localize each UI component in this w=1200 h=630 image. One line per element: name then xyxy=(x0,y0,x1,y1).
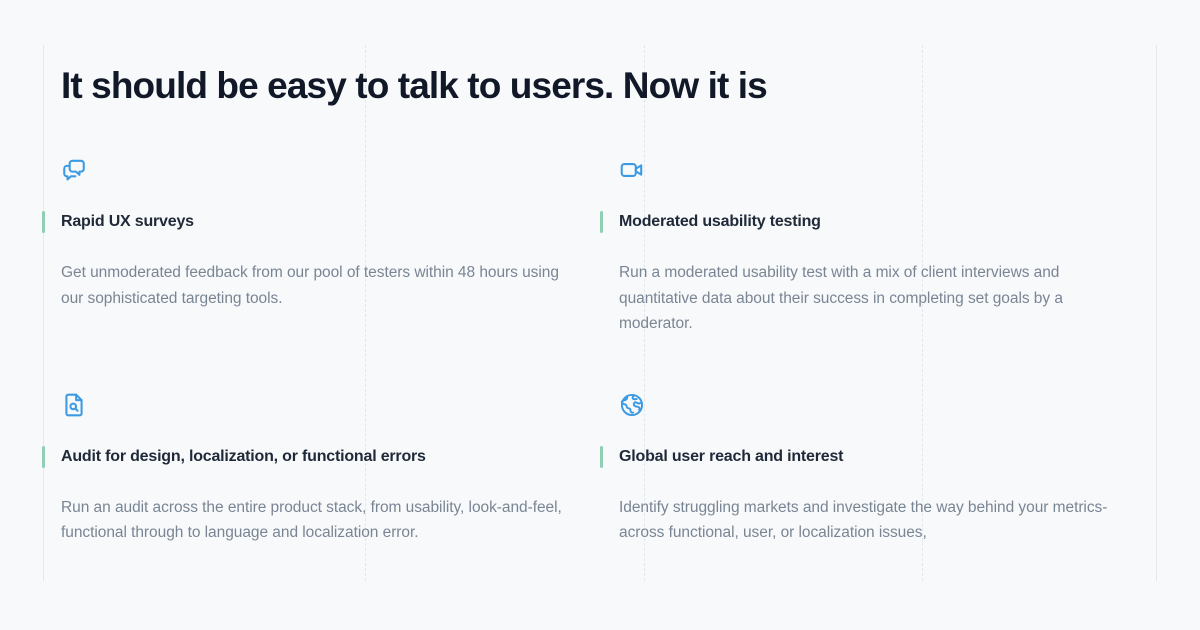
feature-title-row: Rapid UX surveys xyxy=(42,211,581,233)
feature-title: Moderated usability testing xyxy=(619,211,821,233)
feature-grid: Rapid UX surveys Get unmoderated feedbac… xyxy=(61,157,1141,546)
feature-card-moderated-usability-testing: Moderated usability testing Run a modera… xyxy=(619,157,1139,337)
feature-title: Audit for design, localization, or funct… xyxy=(61,446,426,468)
feature-title: Global user reach and interest xyxy=(619,446,843,468)
accent-bar xyxy=(600,446,603,468)
chat-bubbles-icon xyxy=(61,157,87,183)
feature-card-rapid-ux-surveys: Rapid UX surveys Get unmoderated feedbac… xyxy=(61,157,581,337)
video-camera-icon xyxy=(619,157,645,183)
page-root: It should be easy to talk to users. Now … xyxy=(0,0,1200,630)
page-title: It should be easy to talk to users. Now … xyxy=(61,63,1141,109)
feature-title: Rapid UX surveys xyxy=(61,211,194,233)
accent-bar xyxy=(42,446,45,468)
feature-title-row: Audit for design, localization, or funct… xyxy=(42,446,581,468)
feature-title-row: Moderated usability testing xyxy=(600,211,1139,233)
accent-bar xyxy=(600,211,603,233)
globe-icon xyxy=(619,392,645,418)
file-search-icon xyxy=(61,392,87,418)
feature-description: Identify struggling markets and investig… xyxy=(619,495,1114,546)
feature-card-global-reach: Global user reach and interest Identify … xyxy=(619,392,1139,546)
feature-card-audit-errors: Audit for design, localization, or funct… xyxy=(61,392,581,546)
feature-description: Run a moderated usability test with a mi… xyxy=(619,260,1114,337)
accent-bar xyxy=(42,211,45,233)
feature-title-row: Global user reach and interest xyxy=(600,446,1139,468)
content-area: It should be easy to talk to users. Now … xyxy=(61,63,1141,546)
feature-description: Get unmoderated feedback from our pool o… xyxy=(61,260,569,311)
feature-description: Run an audit across the entire product s… xyxy=(61,495,569,546)
